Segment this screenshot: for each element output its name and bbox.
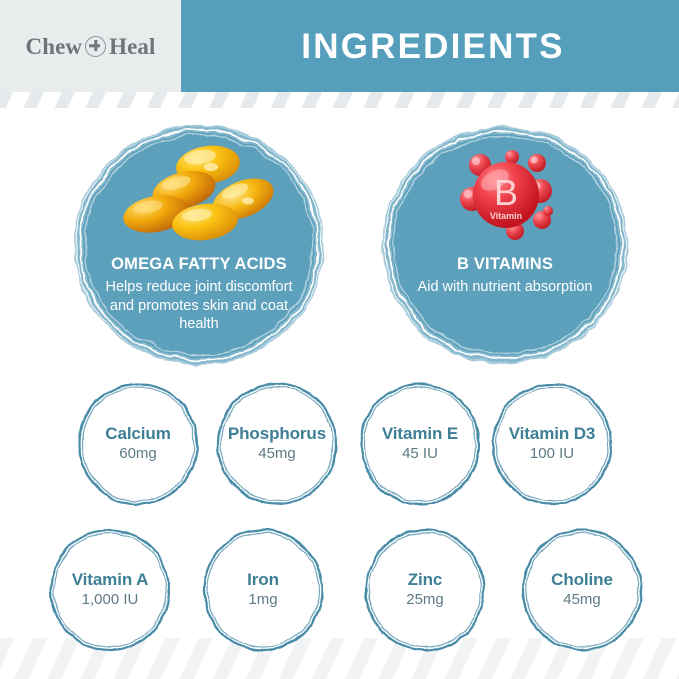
nutrient-labels: Choline 45mg: [517, 524, 647, 656]
nutrient-labels: Vitamin D3 100 IU: [487, 378, 617, 510]
nutrient-value: 25mg: [406, 591, 444, 610]
nutrient-circle-phosphorus: Phosphorus 45mg: [212, 378, 342, 510]
ingredients-canvas: OMEGA FATTY ACIDS Helps reduce joint dis…: [0, 0, 679, 679]
nutrient-labels: Phosphorus 45mg: [212, 378, 342, 510]
nutrient-labels: Zinc 25mg: [360, 524, 490, 656]
nutrient-labels: Vitamin E 45 IU: [355, 378, 485, 510]
feature-title: OMEGA FATTY ACIDS: [111, 255, 287, 273]
nutrient-labels: Iron 1mg: [198, 524, 328, 656]
nutrient-circle-choline: Choline 45mg: [517, 524, 647, 656]
nutrient-name: Calcium: [105, 424, 170, 444]
nutrient-value: 100 IU: [530, 445, 574, 464]
nutrient-name: Zinc: [408, 570, 443, 590]
page-header: Chew Heal INGREDIENTS: [0, 0, 679, 92]
nutrient-name: Choline: [551, 570, 613, 590]
nutrient-value: 60mg: [119, 445, 157, 464]
brand-logo-panel: Chew Heal: [0, 0, 181, 92]
feature-card-omega-fatty-acids: OMEGA FATTY ACIDS Helps reduce joint dis…: [72, 123, 326, 367]
nutrient-name: Vitamin E: [382, 424, 458, 444]
circled-plus-icon: [85, 36, 106, 57]
brand-name-left: Chew: [25, 35, 82, 58]
header-title-panel: INGREDIENTS: [181, 0, 679, 92]
brand-name-right: Heal: [109, 35, 155, 58]
nutrient-circle-vitamin-d3: Vitamin D3 100 IU: [487, 378, 617, 510]
nutrient-name: Vitamin A: [72, 570, 149, 590]
nutrient-value: 45mg: [563, 591, 601, 610]
page-title: INGREDIENTS: [295, 29, 564, 64]
nutrient-circle-vitamin-e: Vitamin E 45 IU: [355, 378, 485, 510]
svg-text:B: B: [494, 172, 518, 213]
nutrient-name: Phosphorus: [228, 424, 326, 444]
nutrient-circle-calcium: Calcium 60mg: [73, 378, 203, 510]
nutrient-circle-iron: Iron 1mg: [198, 524, 328, 656]
nutrient-value: 45mg: [258, 445, 296, 464]
fish-oil-softgel-capsules-icon: [114, 143, 284, 251]
brand-logo: Chew Heal: [25, 35, 155, 58]
nutrient-name: Iron: [247, 570, 279, 590]
feature-content: B Vitamin B VITAMINS Aid with nutrient a…: [378, 123, 632, 367]
feature-title: B VITAMINS: [457, 255, 553, 273]
feature-description: Aid with nutrient absorption: [418, 278, 593, 297]
nutrient-labels: Vitamin A 1,000 IU: [45, 524, 175, 656]
nutrient-name: Vitamin D3: [509, 424, 596, 444]
nutrient-value: 1,000 IU: [82, 591, 139, 610]
nutrient-value: 45 IU: [402, 445, 438, 464]
vitamin-b-molecule-icon: B Vitamin: [420, 143, 590, 251]
nutrient-value: 1mg: [248, 591, 277, 610]
feature-description: Helps reduce joint discomfort and promot…: [92, 278, 307, 334]
feature-content: OMEGA FATTY ACIDS Helps reduce joint dis…: [72, 123, 326, 367]
nutrient-circle-vitamin-a: Vitamin A 1,000 IU: [45, 524, 175, 656]
feature-card-b-vitamins: B Vitamin B VITAMINS Aid with nutrient a…: [378, 123, 632, 367]
nutrient-circle-zinc: Zinc 25mg: [360, 524, 490, 656]
svg-text:Vitamin: Vitamin: [490, 211, 522, 221]
nutrient-labels: Calcium 60mg: [73, 378, 203, 510]
